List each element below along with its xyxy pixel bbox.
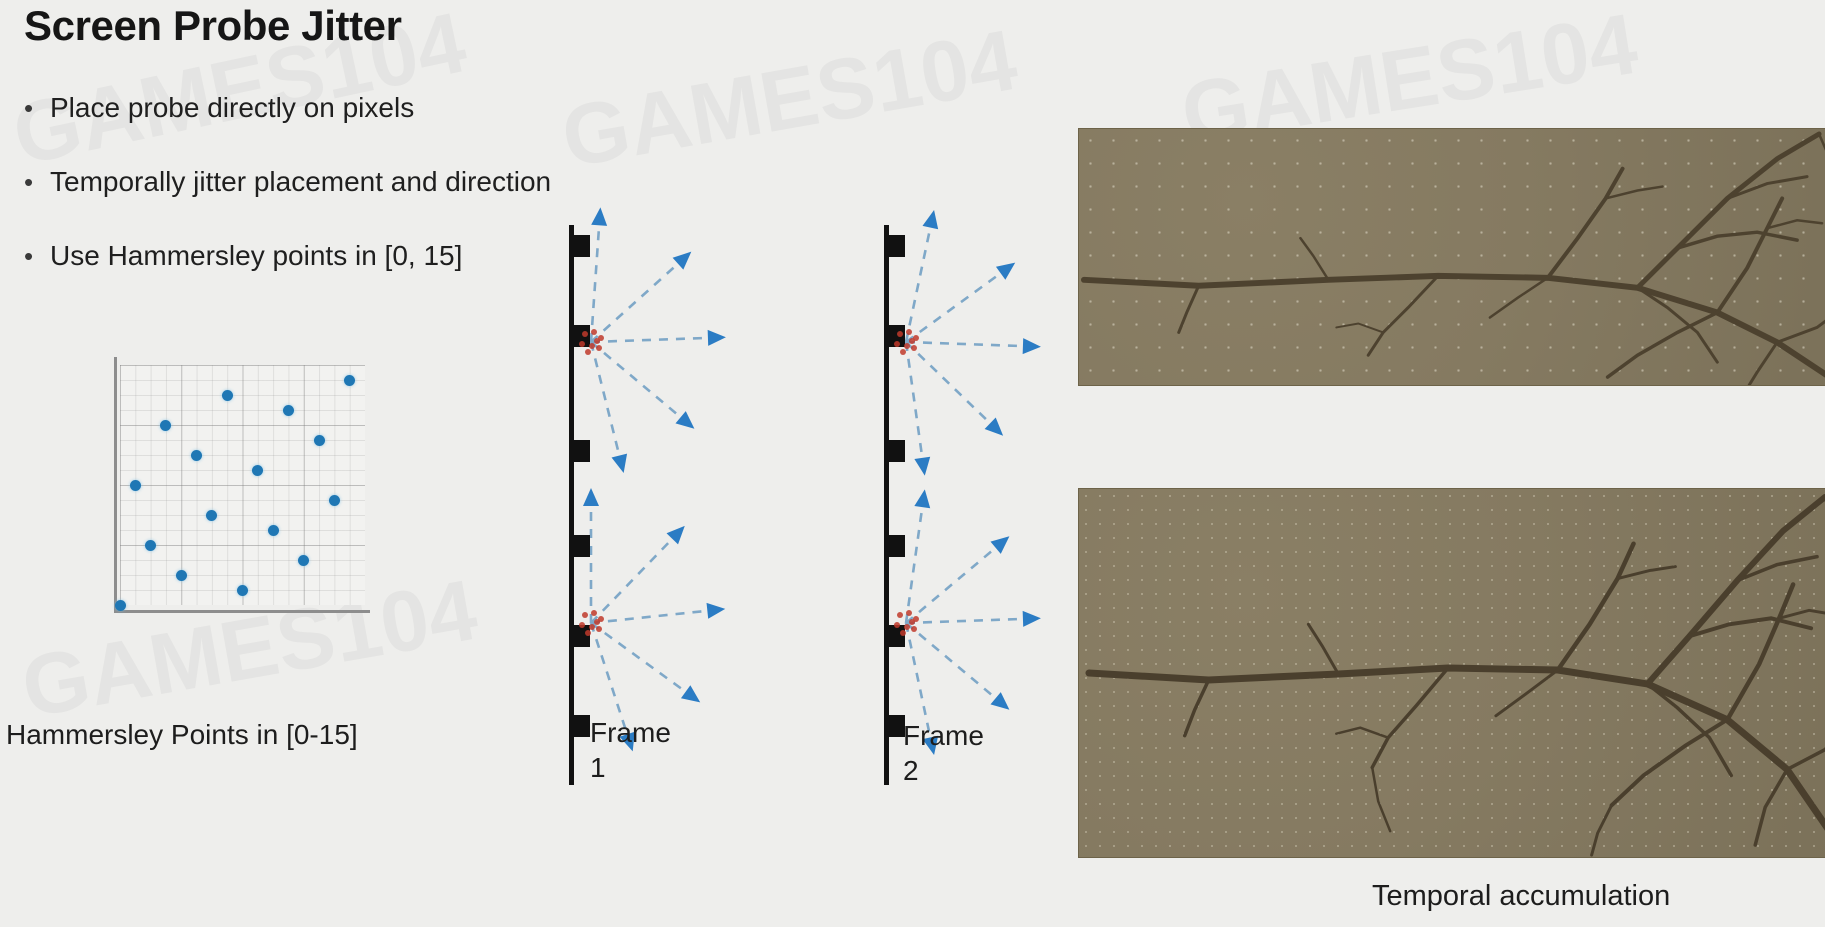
scatter-point: [344, 375, 355, 386]
probe-dot: [591, 329, 597, 335]
scatter-point: [130, 480, 141, 491]
probe-dot: [909, 619, 915, 625]
probe-ray: [591, 623, 689, 694]
bullet-marker-icon: •: [24, 95, 50, 121]
chart-x-axis: [114, 610, 370, 613]
scatter-point: [206, 510, 217, 521]
probe-ray-arrowhead-icon: [996, 263, 1015, 280]
hammersley-scatter-chart: [120, 365, 365, 605]
screen-tick-5: [572, 715, 590, 737]
page-title: Screen Probe Jitter: [24, 2, 402, 50]
probe-dot: [906, 610, 912, 616]
probe-ray-arrowhead-icon: [612, 454, 628, 473]
probe-dot: [594, 619, 600, 625]
bullet-item-1: • Temporally jitter placement and direct…: [24, 166, 551, 198]
temporal-accumulation-caption: Temporal accumulation: [1372, 880, 1670, 913]
probe-dot: [900, 630, 906, 636]
probe-ray-arrowhead-icon: [990, 536, 1009, 554]
probe-ray: [591, 536, 675, 623]
screen-tick-3: [887, 535, 905, 557]
chart-gridlines: [120, 365, 365, 605]
probe-dot: [904, 624, 910, 630]
bullet-item-0: • Place probe directly on pixels: [24, 92, 414, 124]
frame-0-render-image: [1078, 128, 1825, 386]
probe-ray: [906, 271, 1004, 342]
probe-ray: [906, 623, 999, 701]
probe-dot: [585, 349, 591, 355]
probe-dot: [911, 626, 917, 632]
frame-1-label: Frame 1: [590, 715, 671, 785]
scatter-point: [222, 390, 233, 401]
probe-dot: [579, 622, 585, 628]
scatter-point: [252, 465, 263, 476]
probe-ray-arrowhead-icon: [1023, 611, 1041, 627]
probe-dot: [582, 331, 588, 337]
probe-dot: [596, 345, 602, 351]
frame-1-rays: [555, 225, 805, 785]
probe-dot: [579, 341, 585, 347]
branch-illustration: [1079, 489, 1825, 857]
probe-ray: [591, 261, 681, 342]
bullet-marker-icon: •: [24, 169, 50, 195]
bullet-label: Temporally jitter placement and directio…: [50, 166, 551, 198]
probe-ray-arrowhead-icon: [914, 489, 930, 508]
bullet-marker-icon: •: [24, 243, 50, 269]
probe-dot: [897, 612, 903, 618]
screen-tick-4: [887, 625, 905, 647]
probe-ray-arrowhead-icon: [990, 692, 1009, 710]
probe-dot: [589, 343, 595, 349]
probe-ray-arrowhead-icon: [667, 526, 685, 545]
screen-tick-4: [572, 625, 590, 647]
probe-dot: [894, 622, 900, 628]
probe-ray-arrowhead-icon: [914, 457, 930, 476]
probe-ray: [906, 342, 1027, 346]
scatter-point: [237, 585, 248, 596]
scatter-point: [268, 525, 279, 536]
probe-dot: [585, 630, 591, 636]
probe-ray-arrowhead-icon: [707, 603, 726, 619]
probe-ray-arrowhead-icon: [673, 252, 692, 270]
probe-ray: [591, 221, 599, 342]
probe-ray-arrowhead-icon: [583, 488, 599, 506]
probe-ray-arrowhead-icon: [681, 685, 700, 702]
scatter-point: [191, 450, 202, 461]
temporal-accumulation-render-image: [1078, 488, 1825, 858]
probe-dot: [591, 610, 597, 616]
probe-ray: [906, 342, 993, 426]
screen-tick-3: [572, 535, 590, 557]
probe-dot: [594, 338, 600, 344]
screen-tick-0: [572, 235, 590, 257]
probe-dot: [589, 624, 595, 630]
probe-ray: [906, 545, 999, 623]
scatter-point: [283, 405, 294, 416]
probe-ray: [591, 342, 684, 420]
probe-dot: [900, 349, 906, 355]
probe-ray-arrowhead-icon: [923, 210, 939, 229]
probe-ray: [906, 342, 923, 462]
scatter-point: [160, 420, 171, 431]
probe-dot: [582, 612, 588, 618]
probe-ray-arrowhead-icon: [675, 411, 694, 429]
probe-ray-arrowhead-icon: [1023, 338, 1041, 354]
scatter-point: [145, 540, 156, 551]
probe-dot: [897, 331, 903, 337]
probe-ray: [906, 503, 923, 623]
scatter-point: [314, 435, 325, 446]
scatter-point: [298, 555, 309, 566]
frame-1-diagram: [555, 225, 805, 785]
frame-2-label: Frame 2: [903, 718, 984, 788]
probe-dot: [596, 626, 602, 632]
screen-tick-2: [572, 440, 590, 462]
probe-ray: [591, 338, 712, 342]
hammersley-caption: Hammersley Points in [0-15]: [6, 718, 358, 752]
probe-dot: [911, 345, 917, 351]
chart-y-axis: [114, 357, 117, 613]
branch-illustration: [1079, 129, 1825, 385]
bullet-label: Place probe directly on pixels: [50, 92, 414, 124]
probe-dot: [906, 329, 912, 335]
probe-ray-arrowhead-icon: [591, 207, 607, 226]
probe-dot: [909, 338, 915, 344]
probe-ray-arrowhead-icon: [708, 330, 726, 346]
probe-dot: [904, 343, 910, 349]
probe-ray: [591, 610, 711, 623]
screen-tick-0: [887, 235, 905, 257]
screen-tick-2: [887, 440, 905, 462]
bullet-label: Use Hammersley points in [0, 15]: [50, 240, 462, 272]
bullet-item-2: • Use Hammersley points in [0, 15]: [24, 240, 462, 272]
scatter-point: [329, 495, 340, 506]
probe-dot: [894, 341, 900, 347]
probe-ray: [906, 619, 1027, 623]
scatter-point: [115, 600, 126, 611]
probe-ray: [591, 342, 620, 459]
probe-ray-arrowhead-icon: [985, 418, 1004, 436]
scatter-point: [176, 570, 187, 581]
watermark-text: GAMES104: [555, 11, 1024, 188]
probe-ray: [906, 224, 931, 342]
slide-root: GAMES104 GAMES104 GAMES104 GAMES104 Scre…: [0, 0, 1825, 927]
